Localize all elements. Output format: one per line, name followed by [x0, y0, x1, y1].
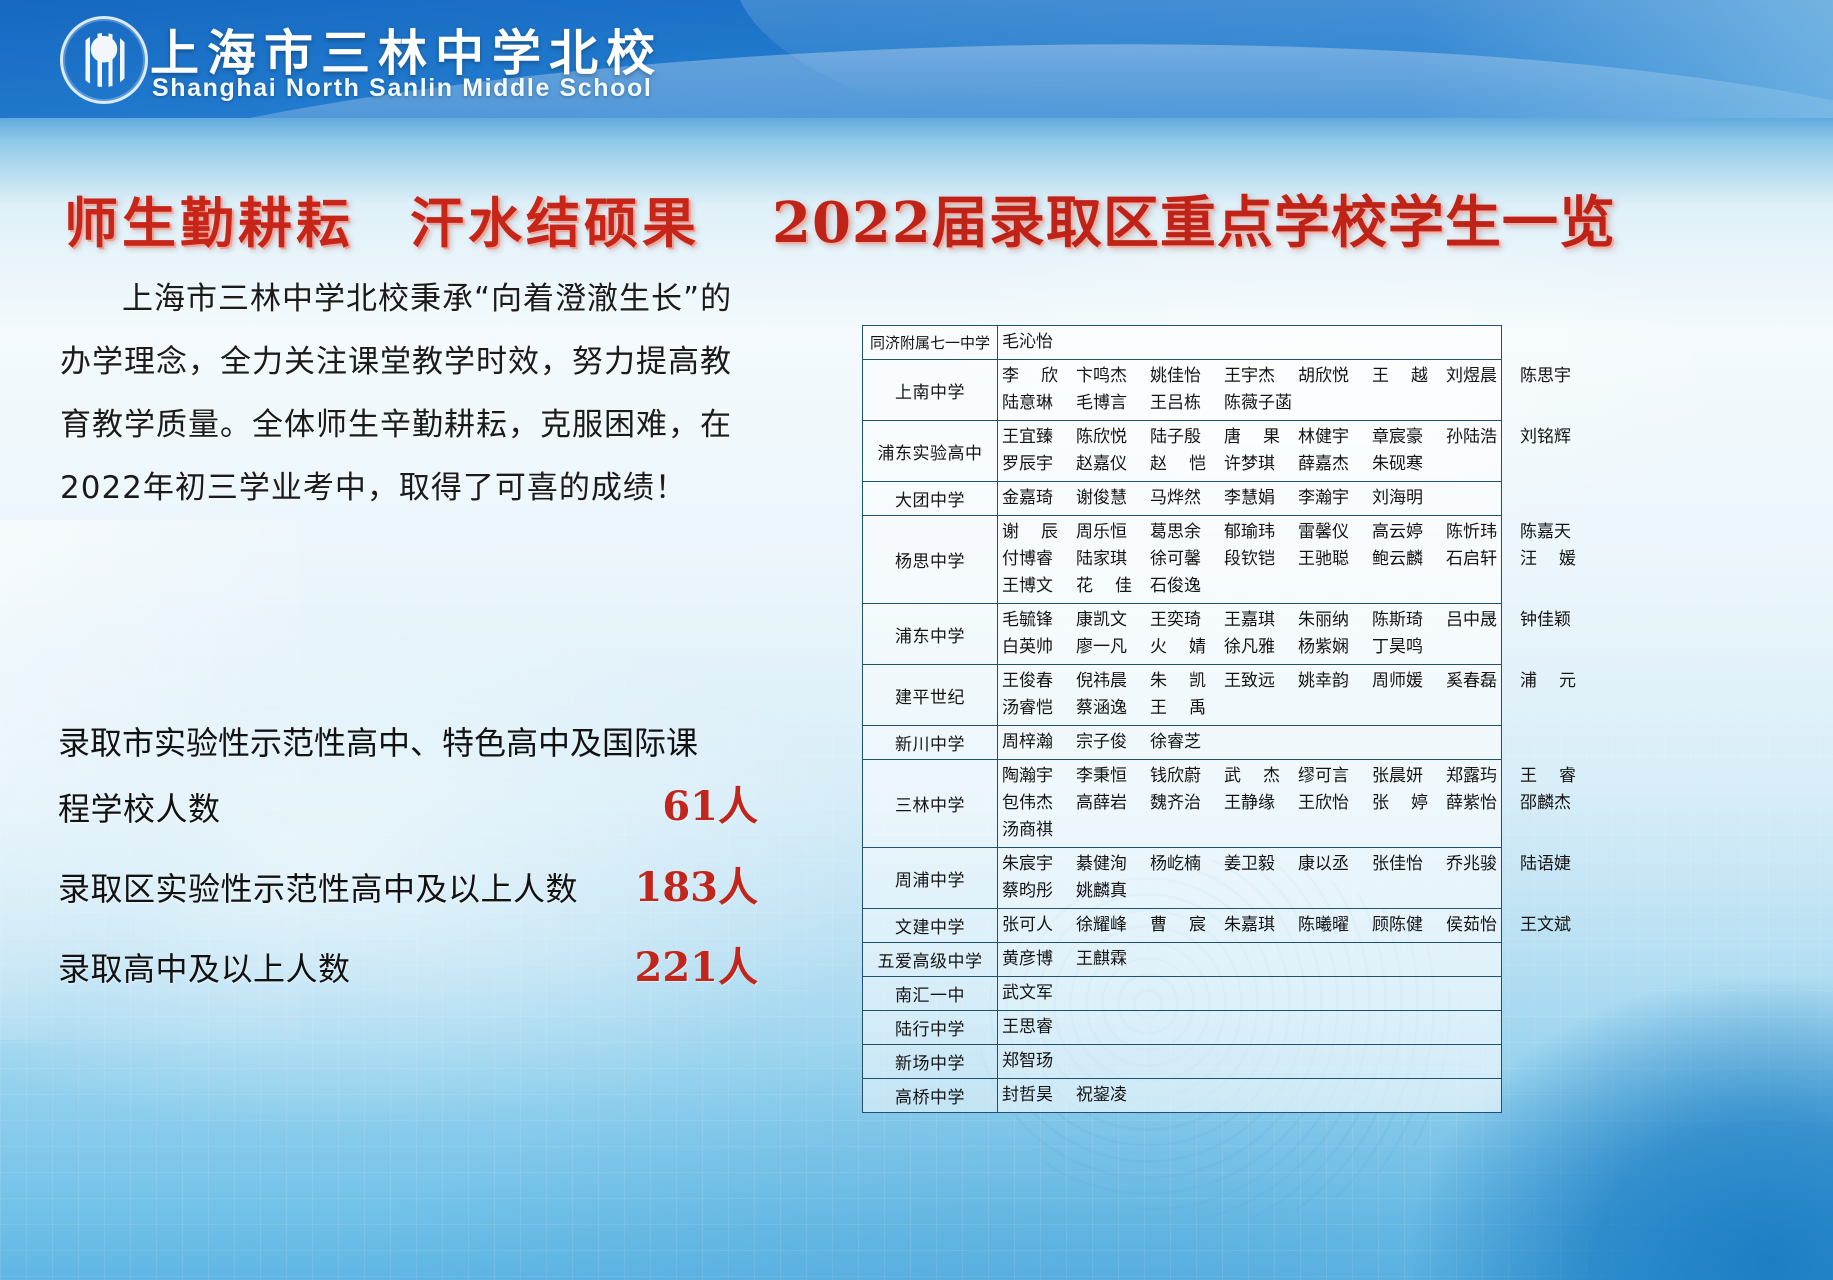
school-name-cell: 杨思中学: [863, 516, 998, 604]
student-name: 周师媛: [1372, 668, 1446, 695]
admissions-table-wrapper: 同济附属七一中学毛沁怡上南中学李欣卞鸣杰姚佳怡王宇杰胡欣悦王越刘煜晨陈思宇陆意琳…: [862, 325, 1502, 1113]
student-name: 花佳: [1076, 573, 1150, 600]
student-name: 李欣: [1002, 363, 1076, 390]
student-name: 姚幸韵: [1298, 668, 1372, 695]
student-name: 陈薇子菡: [1224, 390, 1298, 417]
table-row: 新川中学周梓瀚宗子俊徐睿芝: [863, 726, 1502, 760]
student-name: 林健宇: [1298, 424, 1372, 451]
school-name-cell: 建平世纪: [863, 665, 998, 726]
header-fade-decoration: [1413, 0, 1833, 118]
student-name: 蔡涵逸: [1076, 695, 1150, 722]
student-name: 侯茹怡: [1446, 912, 1520, 939]
school-name-cell: 浦东中学: [863, 604, 998, 665]
student-names-cell: 张可人徐耀峰曹宸朱嘉琪陈曦曜顾陈健侯茹怡王文斌: [998, 909, 1502, 943]
student-name: 宗子俊: [1076, 729, 1150, 756]
student-name: 康以丞: [1298, 851, 1372, 878]
student-names-cell: 王宜臻陈欣悦陆子殷唐果林健宇章宸豪孙陆浩刘铭辉罗辰宇赵嘉仪赵恺许梦琪薛嘉杰朱砚寒: [998, 421, 1502, 482]
student-name: 封哲昊: [1002, 1082, 1076, 1109]
student-name: 乔兆骏: [1446, 851, 1520, 878]
statistics-block: 录取市实验性示范性高中、特色高中及国际课程学校人数61人录取区实验性示范性高中及…: [58, 712, 758, 1011]
student-name: 雷馨仪: [1298, 519, 1372, 546]
table-row: 上南中学李欣卞鸣杰姚佳怡王宇杰胡欣悦王越刘煜晨陈思宇陆意琳毛博言王吕栋陈薇子菡: [863, 360, 1502, 421]
student-name: 王驰聪: [1298, 546, 1372, 573]
student-name: 陆子殷: [1150, 424, 1224, 451]
school-name-en: Shanghai North Sanlin Middle School: [152, 74, 652, 103]
student-name: 姜卫毅: [1224, 851, 1298, 878]
student-name: 张婷: [1372, 790, 1446, 817]
student-name-line: 武文军: [1002, 980, 1497, 1007]
student-name: 毛毓锋: [1002, 607, 1076, 634]
student-names-cell: 武文军: [998, 977, 1502, 1011]
student-name: 罗辰宇: [1002, 451, 1076, 478]
student-name-line: 谢辰周乐恒葛思余郁瑜玮雷馨仪高云婷陈忻玮陈嘉天: [1002, 519, 1497, 546]
student-name-line: 毛沁怡: [1002, 329, 1497, 356]
student-name: 王宜臻: [1002, 424, 1076, 451]
student-name: 刘铭辉: [1520, 424, 1594, 451]
table-row: 大团中学金嘉琦谢俊慧马烨然李慧娟李瀚宇刘海明: [863, 482, 1502, 516]
student-name: 薛嘉杰: [1298, 451, 1372, 478]
student-name-line: 陶瀚宇李秉恒钱欣蔚武杰缪可言张晨妍郑露玙王睿: [1002, 763, 1497, 790]
student-name: 郑露玙: [1446, 763, 1520, 790]
student-name: 胡欣悦: [1298, 363, 1372, 390]
student-name: 杨紫娴: [1298, 634, 1372, 661]
table-row: 浦东实验高中王宜臻陈欣悦陆子殷唐果林健宇章宸豪孙陆浩刘铭辉罗辰宇赵嘉仪赵恺许梦琪…: [863, 421, 1502, 482]
student-name: 黄彦博: [1002, 946, 1076, 973]
table-row: 建平世纪王俊春倪祎晨朱凯王致远姚幸韵周师媛奚春磊浦元汤睿恺蔡涵逸王禹: [863, 665, 1502, 726]
student-name: 王越: [1372, 363, 1446, 390]
table-row: 陆行中学王思睿: [863, 1011, 1502, 1045]
student-name: 王吕栋: [1150, 390, 1224, 417]
school-name-cell: 新场中学: [863, 1045, 998, 1079]
school-name-cell: 三林中学: [863, 760, 998, 848]
student-name: 付博睿: [1002, 546, 1076, 573]
student-name: 包伟杰: [1002, 790, 1076, 817]
student-name-line: 付博睿陆家琪徐可馨段钦铠王驰聪鲍云麟石启轩汪媛: [1002, 546, 1497, 573]
slogan-right: 汗水结硕果: [410, 179, 700, 258]
student-name: 姚佳怡: [1150, 363, 1224, 390]
page-title: 2022届录取区重点学校学生一览: [772, 178, 1616, 259]
stat-value: 221人: [635, 935, 759, 993]
student-name-line: 黄彦博王麒霖: [1002, 946, 1497, 973]
student-name: 朱宸宇: [1002, 851, 1076, 878]
student-name-line: 汤睿恺蔡涵逸王禹: [1002, 695, 1497, 722]
student-name: 徐凡雅: [1224, 634, 1298, 661]
school-crest-glyph: [77, 33, 131, 87]
headline-row: 师生勤耕耘 汗水结硕果 2022届录取区重点学校学生一览: [0, 178, 1833, 259]
student-name: 武杰: [1224, 763, 1298, 790]
student-name: 刘煜晨: [1446, 363, 1520, 390]
student-name: 张佳怡: [1372, 851, 1446, 878]
table-row: 文建中学张可人徐耀峰曹宸朱嘉琪陈曦曜顾陈健侯茹怡王文斌: [863, 909, 1502, 943]
student-name: 石俊逸: [1150, 573, 1224, 600]
student-name-line: 蔡昀彤姚麟真: [1002, 878, 1497, 905]
student-name: 朱凯: [1150, 668, 1224, 695]
student-name: 奚春磊: [1446, 668, 1520, 695]
student-name: 徐可馨: [1150, 546, 1224, 573]
student-name: 曹宸: [1150, 912, 1224, 939]
student-name: 孙陆浩: [1446, 424, 1520, 451]
student-name: 郑智玚: [1002, 1048, 1076, 1075]
student-name: 王宇杰: [1224, 363, 1298, 390]
table-row: 周浦中学朱宸宇綦健洵杨屹楠姜卫毅康以丞张佳怡乔兆骏陆语婕蔡昀彤姚麟真: [863, 848, 1502, 909]
student-name: 石启轩: [1446, 546, 1520, 573]
student-name: 张可人: [1002, 912, 1076, 939]
stat-value: 61人: [662, 774, 758, 832]
student-name: 马烨然: [1150, 485, 1224, 512]
stat-label-line1: 录取市实验性示范性高中、特色高中及国际课: [58, 712, 758, 774]
student-name: 高云婷: [1372, 519, 1446, 546]
student-name: 王麒霖: [1076, 946, 1150, 973]
student-name: 陈斯琦: [1372, 607, 1446, 634]
student-name: 钟佳颖: [1520, 607, 1594, 634]
student-names-cell: 郑智玚: [998, 1045, 1502, 1079]
table-row: 浦东中学毛毓锋康凯文王奕琦王嘉琪朱丽纳陈斯琦吕中晟钟佳颖白英帅廖一凡火婧徐凡雅杨…: [863, 604, 1502, 665]
student-name: 陈忻玮: [1446, 519, 1520, 546]
student-name: 祝鋆凌: [1076, 1082, 1150, 1109]
student-name: 陈嘉天: [1520, 519, 1594, 546]
school-name-cell: 陆行中学: [863, 1011, 998, 1045]
student-name-line: 王俊春倪祎晨朱凯王致远姚幸韵周师媛奚春磊浦元: [1002, 668, 1497, 695]
student-name: 朱丽纳: [1298, 607, 1372, 634]
student-name: 王静缘: [1224, 790, 1298, 817]
school-name-cell: 周浦中学: [863, 848, 998, 909]
student-name: 吕中晟: [1446, 607, 1520, 634]
student-name: 薛紫怡: [1446, 790, 1520, 817]
student-names-cell: 毛沁怡: [998, 326, 1502, 360]
student-name: 王致远: [1224, 668, 1298, 695]
stat-row: 录取高中及以上人数221人: [58, 931, 758, 993]
student-name-line: 王思睿: [1002, 1014, 1497, 1041]
student-name: 廖一凡: [1076, 634, 1150, 661]
student-name: 谢辰: [1002, 519, 1076, 546]
student-names-cell: 王思睿: [998, 1011, 1502, 1045]
student-name: 陈曦曜: [1298, 912, 1372, 939]
student-name: 毛博言: [1076, 390, 1150, 417]
student-name-line: 毛毓锋康凯文王奕琦王嘉琪朱丽纳陈斯琦吕中晟钟佳颖: [1002, 607, 1497, 634]
student-name: 汤商祺: [1002, 817, 1076, 844]
admissions-table: 同济附属七一中学毛沁怡上南中学李欣卞鸣杰姚佳怡王宇杰胡欣悦王越刘煜晨陈思宇陆意琳…: [862, 325, 1502, 1113]
student-names-cell: 王俊春倪祎晨朱凯王致远姚幸韵周师媛奚春磊浦元汤睿恺蔡涵逸王禹: [998, 665, 1502, 726]
student-name: 徐耀峰: [1076, 912, 1150, 939]
student-name-line: 李欣卞鸣杰姚佳怡王宇杰胡欣悦王越刘煜晨陈思宇: [1002, 363, 1497, 390]
student-name-line: 周梓瀚宗子俊徐睿芝: [1002, 729, 1497, 756]
student-name: 浦元: [1520, 668, 1594, 695]
student-names-cell: 李欣卞鸣杰姚佳怡王宇杰胡欣悦王越刘煜晨陈思宇陆意琳毛博言王吕栋陈薇子菡: [998, 360, 1502, 421]
student-name-line: 张可人徐耀峰曹宸朱嘉琪陈曦曜顾陈健侯茹怡王文斌: [1002, 912, 1497, 939]
student-name: 金嘉琦: [1002, 485, 1076, 512]
student-name: 王文斌: [1520, 912, 1594, 939]
table-row: 新场中学郑智玚: [863, 1045, 1502, 1079]
student-name: 赵恺: [1150, 451, 1224, 478]
student-name: 白英帅: [1002, 634, 1076, 661]
student-name: 王欣怡: [1298, 790, 1372, 817]
student-name: 缪可言: [1298, 763, 1372, 790]
stat-label: 录取高中及以上人数: [58, 945, 351, 993]
student-name: 李慧娟: [1224, 485, 1298, 512]
poster-header-band: 上海市三林中学北校 Shanghai North Sanlin Middle S…: [0, 0, 1833, 118]
student-name-line: 金嘉琦谢俊慧马烨然李慧娟李瀚宇刘海明: [1002, 485, 1497, 512]
student-name: 蔡昀彤: [1002, 878, 1076, 905]
student-name: 王奕琦: [1150, 607, 1224, 634]
student-names-cell: 陶瀚宇李秉恒钱欣蔚武杰缪可言张晨妍郑露玙王睿包伟杰高薛岩魏齐治王静缘王欣怡张婷薛…: [998, 760, 1502, 848]
student-name: 徐睿芝: [1150, 729, 1224, 756]
student-name: 陆家琪: [1076, 546, 1150, 573]
student-name-line: 罗辰宇赵嘉仪赵恺许梦琪薛嘉杰朱砚寒: [1002, 451, 1497, 478]
student-name: 段钦铠: [1224, 546, 1298, 573]
student-name-line: 郑智玚: [1002, 1048, 1497, 1075]
student-name: 火婧: [1150, 634, 1224, 661]
student-name: 顾陈健: [1372, 912, 1446, 939]
student-name: 汤睿恺: [1002, 695, 1076, 722]
school-name-cell: 五爱高级中学: [863, 943, 998, 977]
student-name-line: 汤商祺: [1002, 817, 1497, 844]
student-name: 陈欣悦: [1076, 424, 1150, 451]
student-name-line: 包伟杰高薛岩魏齐治王静缘王欣怡张婷薛紫怡邵麟杰: [1002, 790, 1497, 817]
school-name-cell: 高桥中学: [863, 1079, 998, 1113]
student-name: 汪媛: [1520, 546, 1594, 573]
admissions-table-body: 同济附属七一中学毛沁怡上南中学李欣卞鸣杰姚佳怡王宇杰胡欣悦王越刘煜晨陈思宇陆意琳…: [863, 326, 1502, 1113]
student-name: 卞鸣杰: [1076, 363, 1150, 390]
student-name: 姚麟真: [1076, 878, 1150, 905]
student-name: 丁昊鸣: [1372, 634, 1446, 661]
student-name: 章宸豪: [1372, 424, 1446, 451]
school-name-cell: 上南中学: [863, 360, 998, 421]
student-name: 谢俊慧: [1076, 485, 1150, 512]
student-name-line: 陆意琳毛博言王吕栋陈薇子菡: [1002, 390, 1497, 417]
student-name-line: 封哲昊祝鋆凌: [1002, 1082, 1497, 1109]
student-name: 毛沁怡: [1002, 329, 1076, 356]
student-name: 王博文: [1002, 573, 1076, 600]
student-name: 李瀚宇: [1298, 485, 1372, 512]
school-name-cell: 南汇一中: [863, 977, 998, 1011]
table-row: 同济附属七一中学毛沁怡: [863, 326, 1502, 360]
student-name: 朱砚寒: [1372, 451, 1446, 478]
student-name: 康凯文: [1076, 607, 1150, 634]
student-name: 李秉恒: [1076, 763, 1150, 790]
stat-row: 录取市实验性示范性高中、特色高中及国际课程学校人数61人: [58, 712, 758, 833]
table-row: 杨思中学谢辰周乐恒葛思余郁瑜玮雷馨仪高云婷陈忻玮陈嘉天付博睿陆家琪徐可馨段钦铠王…: [863, 516, 1502, 604]
student-name: 陈思宇: [1520, 363, 1594, 390]
student-name: 王睿: [1520, 763, 1594, 790]
student-name: 魏齐治: [1150, 790, 1224, 817]
student-names-cell: 金嘉琦谢俊慧马烨然李慧娟李瀚宇刘海明: [998, 482, 1502, 516]
student-name: 张晨妍: [1372, 763, 1446, 790]
student-name: 倪祎晨: [1076, 668, 1150, 695]
student-name-line: 王宜臻陈欣悦陆子殷唐果林健宇章宸豪孙陆浩刘铭辉: [1002, 424, 1497, 451]
school-name-cell: 同济附属七一中学: [863, 326, 998, 360]
school-crest-icon: [60, 16, 148, 104]
stat-label-line2: 程学校人数: [58, 785, 221, 833]
student-name: 葛思余: [1150, 519, 1224, 546]
school-name-cell: 文建中学: [863, 909, 998, 943]
student-name: 王禹: [1150, 695, 1224, 722]
student-name: 周乐恒: [1076, 519, 1150, 546]
student-name: 邵麟杰: [1520, 790, 1594, 817]
student-name-line: 王博文花佳石俊逸: [1002, 573, 1497, 600]
student-name: 武文军: [1002, 980, 1076, 1007]
student-name: 陆意琳: [1002, 390, 1076, 417]
student-name: 唐果: [1224, 424, 1298, 451]
student-name: 刘海明: [1372, 485, 1446, 512]
student-name-line: 朱宸宇綦健洵杨屹楠姜卫毅康以丞张佳怡乔兆骏陆语婕: [1002, 851, 1497, 878]
student-name: 王思睿: [1002, 1014, 1076, 1041]
student-names-cell: 朱宸宇綦健洵杨屹楠姜卫毅康以丞张佳怡乔兆骏陆语婕蔡昀彤姚麟真: [998, 848, 1502, 909]
table-row: 三林中学陶瀚宇李秉恒钱欣蔚武杰缪可言张晨妍郑露玙王睿包伟杰高薛岩魏齐治王静缘王欣…: [863, 760, 1502, 848]
student-name: 杨屹楠: [1150, 851, 1224, 878]
table-row: 高桥中学封哲昊祝鋆凌: [863, 1079, 1502, 1113]
student-name: 周梓瀚: [1002, 729, 1076, 756]
student-name: 綦健洵: [1076, 851, 1150, 878]
table-row: 五爱高级中学黄彦博王麒霖: [863, 943, 1502, 977]
student-name: 郁瑜玮: [1224, 519, 1298, 546]
table-row: 南汇一中武文军: [863, 977, 1502, 1011]
student-name-line: 白英帅廖一凡火婧徐凡雅杨紫娴丁昊鸣: [1002, 634, 1497, 661]
student-names-cell: 毛毓锋康凯文王奕琦王嘉琪朱丽纳陈斯琦吕中晟钟佳颖白英帅廖一凡火婧徐凡雅杨紫娴丁昊…: [998, 604, 1502, 665]
intro-paragraph: 上海市三林中学北校秉承“向着澄澈生长”的办学理念，全力关注课堂教学时效，努力提高…: [60, 268, 740, 520]
student-names-cell: 周梓瀚宗子俊徐睿芝: [998, 726, 1502, 760]
student-name: 王嘉琪: [1224, 607, 1298, 634]
student-name: 钱欣蔚: [1150, 763, 1224, 790]
student-names-cell: 谢辰周乐恒葛思余郁瑜玮雷馨仪高云婷陈忻玮陈嘉天付博睿陆家琪徐可馨段钦铠王驰聪鲍云…: [998, 516, 1502, 604]
stat-row: 录取区实验性示范性高中及以上人数183人: [58, 851, 758, 913]
slogan-left: 师生勤耕耘: [64, 179, 354, 258]
student-name: 高薛岩: [1076, 790, 1150, 817]
student-names-cell: 黄彦博王麒霖: [998, 943, 1502, 977]
student-name: 朱嘉琪: [1224, 912, 1298, 939]
student-name: 陶瀚宇: [1002, 763, 1076, 790]
student-name: 王俊春: [1002, 668, 1076, 695]
school-name-cell: 大团中学: [863, 482, 998, 516]
stat-label: 录取区实验性示范性高中及以上人数: [58, 865, 578, 913]
student-name: 鲍云麟: [1372, 546, 1446, 573]
stat-value: 183人: [635, 855, 759, 913]
student-name: 许梦琪: [1224, 451, 1298, 478]
student-name: 陆语婕: [1520, 851, 1594, 878]
school-name-cell: 浦东实验高中: [863, 421, 998, 482]
student-name: 赵嘉仪: [1076, 451, 1150, 478]
school-name-cell: 新川中学: [863, 726, 998, 760]
student-names-cell: 封哲昊祝鋆凌: [998, 1079, 1502, 1113]
